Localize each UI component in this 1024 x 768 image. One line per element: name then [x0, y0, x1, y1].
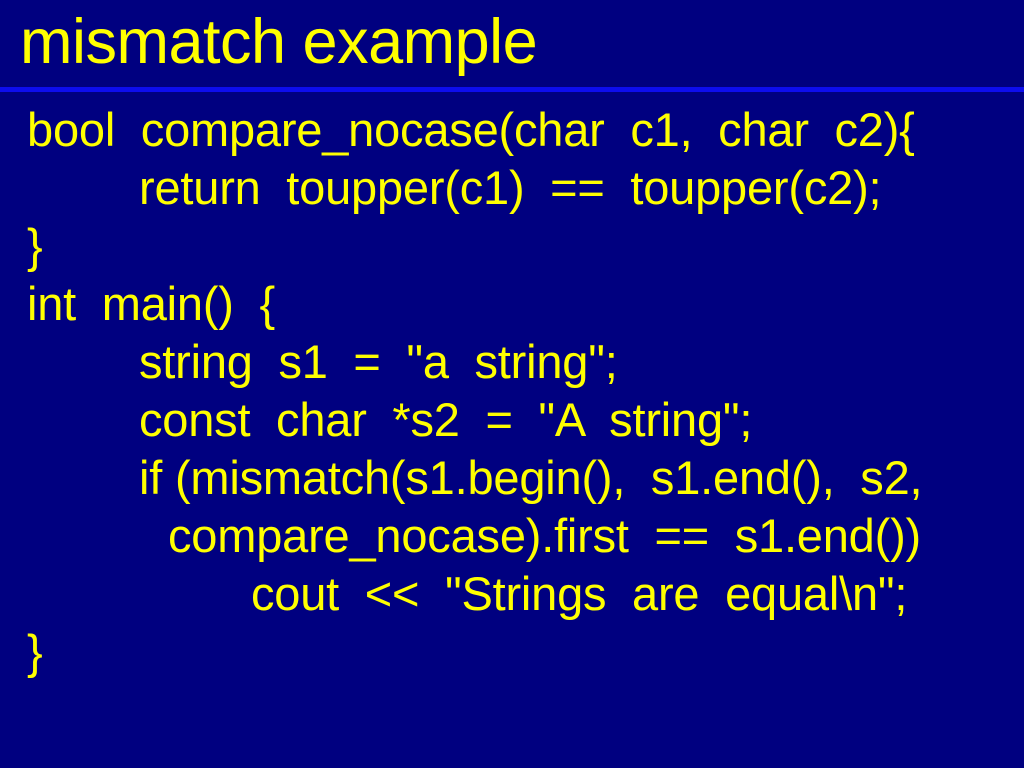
- code-line: }: [0, 623, 1024, 681]
- code-line: return toupper(c1) == toupper(c2);: [0, 159, 1024, 217]
- code-block: bool compare_nocase(char c1, char c2){re…: [0, 101, 1024, 661]
- code-line: }: [0, 217, 1024, 275]
- page-title: mismatch example: [20, 7, 537, 77]
- code-line: int main() {: [0, 275, 1024, 333]
- code-line: if (mismatch(s1.begin(), s1.end(), s2,: [0, 449, 1024, 507]
- code-line: bool compare_nocase(char c1, char c2){: [0, 101, 1024, 159]
- presentation-slide: mismatch example bool compare_nocase(cha…: [0, 0, 1024, 768]
- title-divider-rule: [0, 87, 1024, 92]
- code-line: compare_nocase).first == s1.end()): [0, 507, 1024, 565]
- code-line: const char *s2 = "A string";: [0, 391, 1024, 449]
- code-line: cout << "Strings are equal\n";: [0, 565, 1024, 623]
- code-line: string s1 = "a string";: [0, 333, 1024, 391]
- slide-title-block: mismatch example: [0, 0, 1024, 92]
